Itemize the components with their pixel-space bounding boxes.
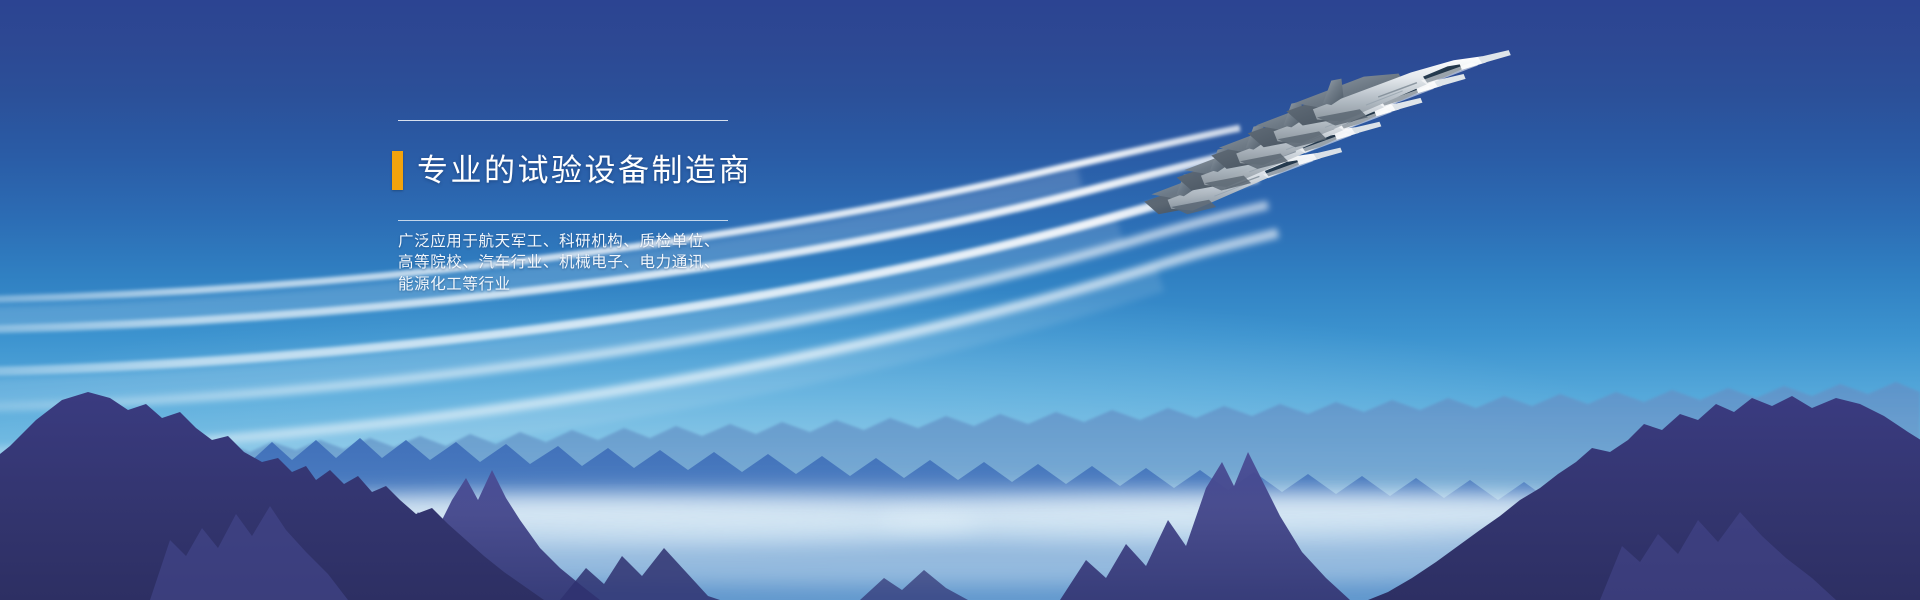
banner-subtitle-line-2: 高等院校、汽车行业、机械电子、电力通讯、 [398, 252, 752, 274]
headline-rule-top [398, 120, 728, 121]
headline-rule-bottom [398, 220, 728, 221]
jet-1 [1286, 50, 1510, 125]
banner-headline: 专业的试验设备制造商 [417, 155, 752, 186]
hero-banner: 专业的试验设备制造商 广泛应用于航天军工、科研机构、质检单位、 高等院校、汽车行… [0, 0, 1920, 600]
accent-bar [392, 151, 403, 190]
jet-formation [1120, 40, 1540, 270]
banner-subtitle-line-1: 广泛应用于航天军工、科研机构、质检单位、 [398, 231, 752, 253]
banner-artwork [0, 0, 1920, 600]
banner-text-block: 专业的试验设备制造商 广泛应用于航天军工、科研机构、质检单位、 高等院校、汽车行… [392, 120, 752, 295]
banner-subtitle-line-3: 能源化工等行业 [398, 274, 752, 296]
headline-row: 专业的试验设备制造商 [392, 134, 752, 207]
